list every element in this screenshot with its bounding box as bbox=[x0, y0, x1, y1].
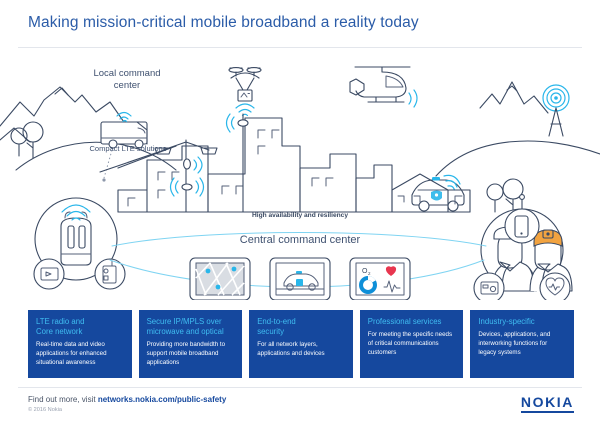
command-van-icon bbox=[101, 113, 147, 149]
bodycam-icon bbox=[474, 273, 504, 300]
feature-panel-professional-services[interactable]: Professional services For meeting the sp… bbox=[360, 310, 464, 378]
panel-title: Industry-specific bbox=[478, 317, 566, 327]
panel-body: Providing more bandwidth to support mobi… bbox=[147, 341, 235, 368]
label-local-command-center: Local command center bbox=[82, 68, 172, 92]
wifi-signal-icon bbox=[194, 157, 202, 173]
panel-body: For all network layers, applications and… bbox=[257, 341, 345, 359]
helicopter-icon bbox=[350, 67, 417, 107]
backpack-radio-group bbox=[34, 198, 125, 289]
heart-monitor-icon bbox=[540, 273, 570, 300]
nokia-logo: NOKIA bbox=[521, 394, 574, 413]
feature-panel-secure-ip-mpls[interactable]: Secure IP/MPLS over microwave and optica… bbox=[139, 310, 243, 378]
footer-prefix: Find out more, visit bbox=[28, 395, 98, 404]
hill-right bbox=[436, 141, 600, 176]
footer-call-to-action: Find out more, visit networks.nokia.com/… bbox=[28, 395, 226, 404]
label-central-command-center: Central command center bbox=[200, 234, 400, 248]
wifi-signal-icon bbox=[409, 90, 417, 107]
nokia-logo-bar bbox=[521, 411, 574, 413]
panel-title: Secure IP/MPLS over microwave and optica… bbox=[147, 317, 235, 337]
vehicle-tracking-tablet-icon bbox=[270, 258, 330, 300]
page-title: Making mission-critical mobile broadband… bbox=[28, 14, 419, 32]
callout-dot bbox=[102, 178, 105, 181]
drone-icon bbox=[229, 68, 261, 116]
video-device-icon bbox=[34, 259, 64, 289]
feature-panel-industry-specific[interactable]: Industry-specific Devices, applications,… bbox=[470, 310, 574, 378]
label-compact-lte: Compact LTE solutions bbox=[88, 144, 168, 153]
label-high-availability: High availability and resiliency bbox=[200, 212, 400, 220]
panel-title: Professional services bbox=[368, 317, 456, 327]
wifi-signal-icon bbox=[117, 113, 131, 122]
mountain-icon bbox=[480, 82, 548, 113]
feature-panel-lte-radio-core-network[interactable]: LTE radio and Core network Real-time dat… bbox=[28, 310, 132, 378]
feature-panel-end-to-end-security[interactable]: End-to-end security For all network laye… bbox=[249, 310, 353, 378]
header-divider bbox=[18, 47, 582, 48]
footer-divider bbox=[18, 387, 582, 388]
infographic-page: Making mission-critical mobile broadband… bbox=[0, 0, 600, 424]
police-car-icon bbox=[412, 175, 464, 211]
panel-title: LTE radio and Core network bbox=[36, 317, 124, 337]
wifi-signal-icon bbox=[236, 104, 254, 116]
vitals-tablet-icon: O 2 bbox=[350, 258, 410, 300]
tree-icon bbox=[11, 122, 43, 158]
panel-body: Real-time data and video applications fo… bbox=[36, 341, 124, 368]
feature-panels: LTE radio and Core network Real-time dat… bbox=[28, 310, 574, 378]
panel-body: Devices, applications, and interworking … bbox=[478, 331, 566, 358]
footer-url-link[interactable]: networks.nokia.com/public-safety bbox=[98, 395, 226, 404]
panel-title: End-to-end security bbox=[257, 317, 345, 337]
copyright-notice: © 2016 Nokia bbox=[28, 407, 62, 413]
police-badge-icon bbox=[431, 191, 442, 201]
nokia-wordmark: NOKIA bbox=[521, 394, 574, 410]
panel-body: For meeting the specific needs of critic… bbox=[368, 331, 456, 358]
map-tablet-icon bbox=[190, 258, 250, 300]
cell-tower-icon bbox=[543, 85, 569, 136]
callout-line bbox=[104, 150, 112, 178]
wifi-signal-icon bbox=[227, 114, 235, 132]
